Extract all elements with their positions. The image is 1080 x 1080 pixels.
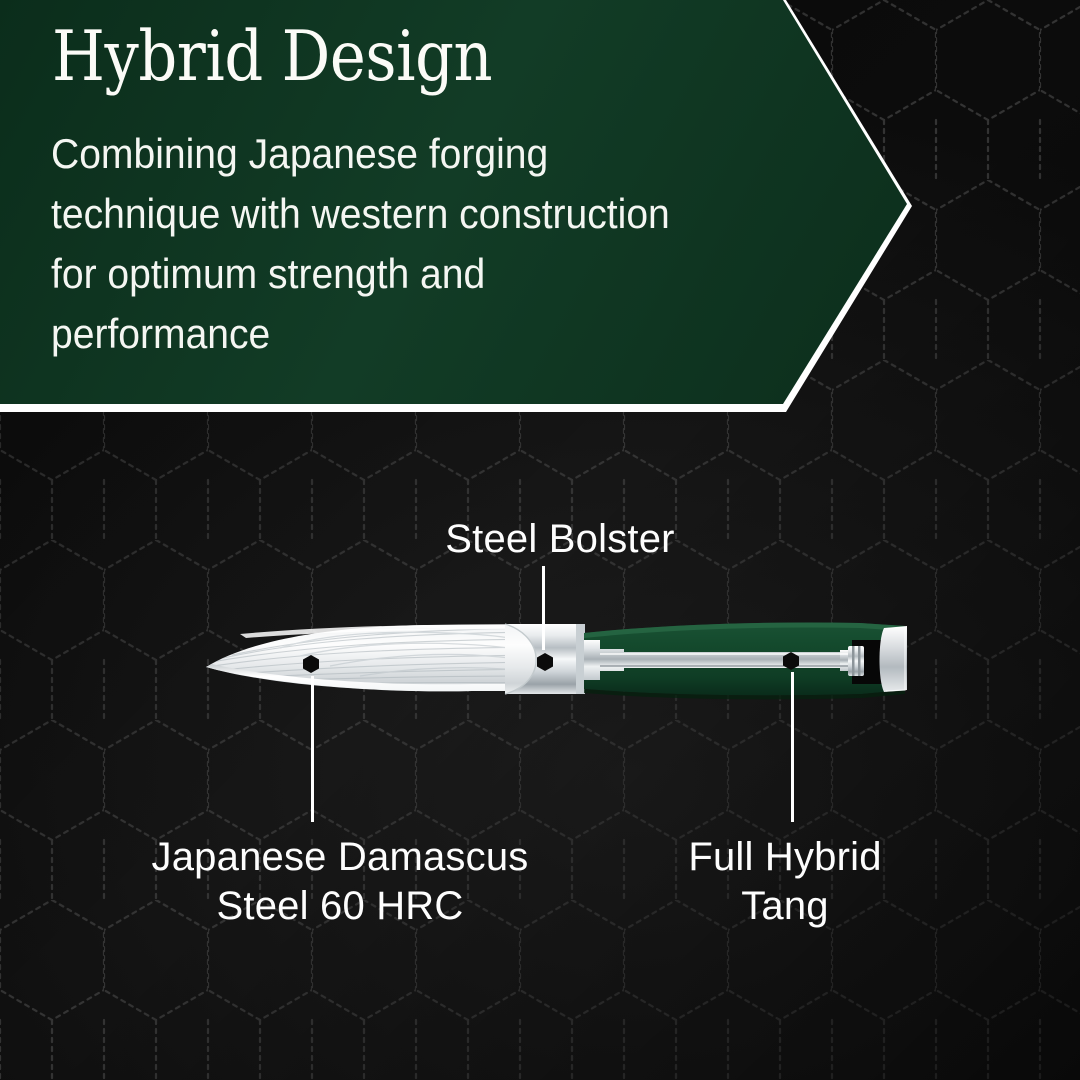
callout-steel-bolster: Steel Bolster (330, 515, 790, 564)
callout-japanese-damascus: Japanese Damascus Steel 60 HRC (50, 833, 630, 931)
knife-bolster (505, 624, 585, 694)
infographic-canvas: Hybrid Design Combining Japanese forging… (0, 0, 1080, 1080)
callout-full-hybrid-tang: Full Hybrid Tang (600, 833, 970, 931)
callout-tang-line-1: Full Hybrid (600, 833, 970, 882)
leader-line-bolster (542, 566, 545, 650)
knife-blade (200, 624, 548, 691)
callout-tang-line-2: Tang (600, 882, 970, 931)
callout-damascus-line-2: Steel 60 HRC (50, 882, 630, 931)
leader-line-tang (791, 672, 794, 822)
leader-line-damascus (311, 676, 314, 822)
callout-damascus-line-1: Japanese Damascus (50, 833, 630, 882)
callout-steel-bolster-text: Steel Bolster (445, 517, 674, 561)
